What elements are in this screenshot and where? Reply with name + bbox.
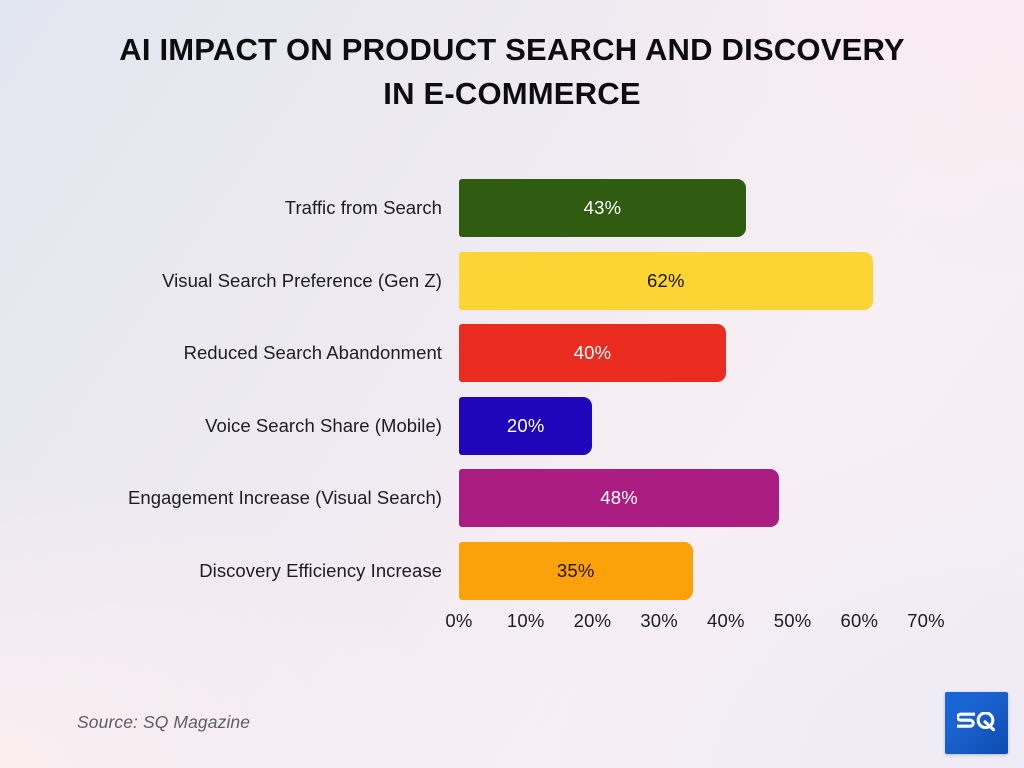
sq-magazine-logo — [945, 692, 1008, 754]
bar-row: Traffic from Search43% — [459, 179, 926, 237]
bar-value-label: 35% — [557, 560, 595, 582]
x-axis-tick-label: 40% — [707, 610, 745, 632]
bar-chart: Traffic from Search43%Visual Search Pref… — [0, 0, 1024, 768]
source-note: Source: SQ Magazine — [77, 712, 250, 733]
x-axis-tick-label: 30% — [640, 610, 678, 632]
sq-logo-icon — [957, 712, 997, 734]
x-axis-tick-label: 20% — [574, 610, 612, 632]
bar-value-label: 20% — [507, 415, 545, 437]
x-axis-tick-label: 50% — [774, 610, 812, 632]
x-axis-tick-label: 60% — [840, 610, 878, 632]
x-axis-tick-label: 0% — [445, 610, 472, 632]
bar-row: Visual Search Preference (Gen Z)62% — [459, 252, 926, 310]
bar[interactable]: 40% — [459, 324, 726, 382]
x-axis: 0%10%20%30%40%50%60%70% — [459, 610, 926, 638]
bar[interactable]: 48% — [459, 469, 779, 527]
bar-row: Voice Search Share (Mobile)20% — [459, 397, 926, 455]
bar[interactable]: 43% — [459, 179, 746, 237]
bar-category-label: Reduced Search Abandonment — [184, 324, 442, 382]
bar[interactable]: 35% — [459, 542, 693, 600]
bar-row: Reduced Search Abandonment40% — [459, 324, 926, 382]
bar-row: Engagement Increase (Visual Search)48% — [459, 469, 926, 527]
bar-value-label: 62% — [647, 270, 685, 292]
bar[interactable]: 20% — [459, 397, 592, 455]
bar-category-label: Traffic from Search — [285, 179, 442, 237]
bar-row: Discovery Efficiency Increase35% — [459, 542, 926, 600]
bar-category-label: Voice Search Share (Mobile) — [205, 397, 442, 455]
bar-value-label: 43% — [584, 197, 622, 219]
x-axis-tick-label: 10% — [507, 610, 545, 632]
chart-plot-area: Traffic from Search43%Visual Search Pref… — [459, 179, 926, 605]
x-axis-tick-label: 70% — [907, 610, 945, 632]
bar-value-label: 48% — [600, 487, 638, 509]
bar-category-label: Visual Search Preference (Gen Z) — [162, 252, 442, 310]
bar[interactable]: 62% — [459, 252, 873, 310]
bar-category-label: Discovery Efficiency Increase — [199, 542, 442, 600]
bar-value-label: 40% — [574, 342, 612, 364]
bar-category-label: Engagement Increase (Visual Search) — [128, 469, 442, 527]
